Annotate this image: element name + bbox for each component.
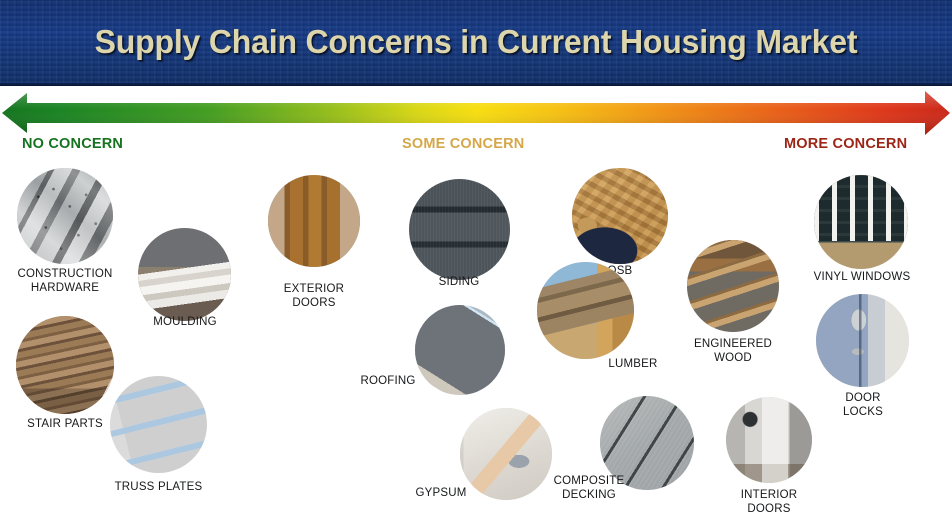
slide-canvas: Supply Chain Concerns in Current Housing… (0, 0, 952, 525)
item-label-roofing: ROOFING (350, 375, 426, 389)
item-label-truss-plates: TRUSS PLATES (96, 481, 221, 495)
roofing-photo (415, 305, 505, 395)
item-label-construction-hardware: CONSTRUCTION HARDWARE (0, 268, 130, 295)
construction-hardware-photo (17, 168, 113, 264)
interior-doors-photo (726, 397, 812, 483)
engineered-wood-photo (687, 240, 779, 332)
item-label-lumber: LUMBER (588, 358, 678, 372)
lumber-photo (537, 262, 634, 359)
concern-scale-arrow (0, 90, 952, 136)
item-label-interior-doors: INTERIOR DOORS (713, 489, 825, 516)
item-label-vinyl-windows: VINYL WINDOWS (806, 271, 918, 285)
item-label-exterior-doors: EXTERIOR DOORS (256, 283, 372, 310)
scale-label-some-concern: SOME CONCERN (402, 136, 524, 152)
moulding-photo (138, 228, 231, 321)
vinyl-windows-photo (814, 175, 908, 269)
stair-parts-photo (16, 316, 114, 414)
title-banner: Supply Chain Concerns in Current Housing… (0, 0, 952, 86)
item-label-siding: SIDING (400, 276, 518, 290)
item-label-composite-decking: COMPOSITE DECKING (534, 475, 644, 502)
item-label-stair-parts: STAIR PARTS (5, 418, 125, 432)
truss-plates-photo (110, 376, 207, 473)
exterior-doors-photo (268, 175, 360, 267)
item-label-door-locks: DOOR LOCKS (808, 392, 918, 419)
item-label-gypsum: GYPSUM (400, 487, 482, 501)
scale-label-more-concern: MORE CONCERN (784, 136, 907, 152)
item-label-engineered-wood: ENGINEERED WOOD (675, 338, 791, 365)
door-locks-photo (816, 294, 909, 387)
osb-photo (572, 168, 668, 264)
item-label-moulding: MOULDING (124, 316, 246, 330)
siding-photo (409, 179, 510, 280)
scale-label-no-concern: NO CONCERN (22, 136, 123, 152)
page-title: Supply Chain Concerns in Current Housing… (14, 23, 937, 61)
